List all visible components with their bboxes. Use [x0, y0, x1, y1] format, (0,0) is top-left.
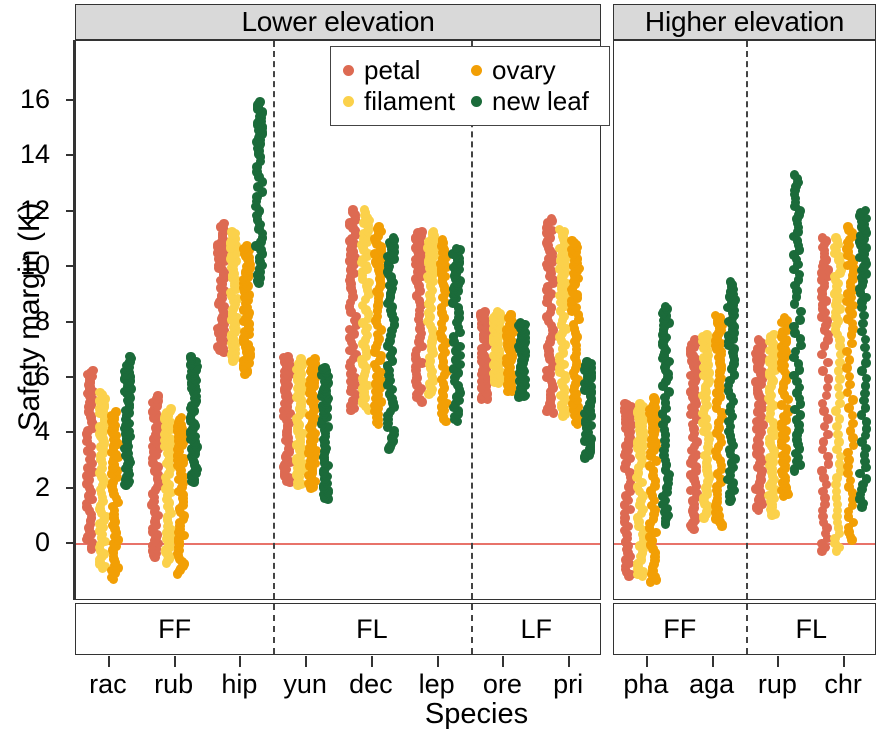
- y-axis-tick-label: 6: [6, 363, 50, 390]
- data-point: [95, 388, 105, 398]
- data-point: [754, 335, 764, 345]
- data-point: [153, 391, 163, 401]
- plot-area: [613, 40, 876, 600]
- data-point: [861, 335, 871, 345]
- y-axis-tick-label: 2: [6, 474, 50, 501]
- x-axis-tick-label: pri: [528, 671, 608, 698]
- data-point: [842, 347, 852, 357]
- data-point: [790, 170, 800, 180]
- data-point: [817, 350, 827, 360]
- data-point: [833, 430, 843, 440]
- group-label: FL: [746, 604, 877, 654]
- legend-marker-petal-icon: [343, 65, 354, 76]
- legend-marker-ovary-icon: [471, 65, 482, 76]
- x-axis-tick-mark: [777, 656, 779, 667]
- x-axis-tick-mark: [646, 656, 648, 667]
- y-axis-tick-label: 0: [6, 529, 50, 556]
- data-point: [842, 363, 852, 373]
- legend-label: ovary: [492, 56, 595, 85]
- group-axis-box: FFFLLF: [75, 603, 601, 655]
- data-point: [858, 319, 868, 329]
- x-axis-tick-mark: [108, 656, 110, 667]
- group-divider: [746, 41, 748, 599]
- data-point: [88, 366, 98, 376]
- group-label: FL: [273, 604, 470, 654]
- data-point: [348, 205, 358, 215]
- data-point: [255, 97, 265, 107]
- legend-label: new leaf: [492, 87, 595, 116]
- data-point: [780, 313, 790, 323]
- data-point: [242, 241, 252, 251]
- data-point: [296, 354, 306, 364]
- data-point: [283, 352, 293, 362]
- data-point: [823, 383, 833, 393]
- legend-label: petal: [364, 56, 461, 85]
- data-point: [847, 339, 857, 349]
- x-axis-tick-mark: [843, 656, 845, 667]
- legend-label: filament: [364, 87, 461, 116]
- data-point: [835, 374, 845, 384]
- data-point: [186, 352, 196, 362]
- data-point: [125, 352, 135, 362]
- data-point: [111, 407, 121, 417]
- chart-figure: Safety margin (K) Species 0246810121416 …: [0, 0, 878, 732]
- y-axis-tick-label: 14: [6, 141, 50, 168]
- data-point: [516, 318, 526, 328]
- data-point: [649, 393, 659, 403]
- data-point: [429, 227, 439, 237]
- x-axis-tick-mark: [239, 656, 241, 667]
- legend-marker-filament-icon: [343, 96, 354, 107]
- facet-panel: Higher elevationFFFLphaagarupchr: [613, 0, 876, 732]
- chart-legend: petalovaryfilamentnew leaf: [330, 46, 610, 126]
- legend-marker-new-leaf-icon: [471, 96, 482, 107]
- y-axis-tick-label: 8: [6, 308, 50, 335]
- data-point: [848, 395, 858, 405]
- data-point: [861, 206, 871, 216]
- data-point: [823, 358, 833, 368]
- data-point: [506, 310, 516, 320]
- data-point: [438, 235, 448, 245]
- y-axis-tick-label: 10: [6, 252, 50, 279]
- x-axis-tick-mark: [174, 656, 176, 667]
- data-point: [320, 363, 330, 373]
- data-point: [824, 374, 834, 384]
- data-point: [859, 311, 869, 321]
- group-axis-box: FFFL: [613, 603, 876, 655]
- data-point: [818, 366, 828, 376]
- x-axis-tick-mark: [305, 656, 307, 667]
- data-point: [480, 307, 490, 317]
- facet-strip-label: Lower elevation: [75, 4, 601, 40]
- x-axis-tick-mark: [712, 656, 714, 667]
- data-point: [818, 233, 828, 243]
- data-point: [845, 380, 855, 390]
- data-point: [845, 372, 855, 382]
- data-point: [796, 307, 806, 317]
- data-point: [219, 219, 229, 229]
- data-point: [417, 227, 427, 237]
- data-point: [845, 355, 855, 365]
- data-point: [860, 343, 870, 353]
- data-point: [726, 277, 736, 287]
- x-axis-tick-mark: [568, 656, 570, 667]
- group-label: LF: [471, 604, 602, 654]
- data-point: [166, 404, 176, 414]
- x-axis-tick-mark: [502, 656, 504, 667]
- group-divider: [273, 41, 275, 599]
- data-point: [831, 233, 841, 243]
- data-point: [620, 399, 630, 409]
- data-point: [374, 222, 384, 232]
- y-axis-tick-label: 16: [6, 86, 50, 113]
- data-point: [822, 391, 832, 401]
- data-point: [635, 399, 645, 409]
- data-point: [567, 236, 577, 246]
- group-label: FF: [76, 604, 273, 654]
- data-point: [819, 406, 829, 416]
- x-axis-tick-label: chr: [803, 671, 878, 698]
- data-point: [227, 227, 237, 237]
- data-point: [389, 233, 399, 243]
- y-axis-tick-label: 12: [6, 197, 50, 224]
- x-axis-tick-mark: [437, 656, 439, 667]
- x-axis-tick-mark: [371, 656, 373, 667]
- data-point: [493, 307, 503, 317]
- y-axis-tick-label: 4: [6, 418, 50, 445]
- data-point: [795, 315, 805, 325]
- data-point: [843, 222, 853, 232]
- facet-strip-label: Higher elevation: [613, 4, 876, 40]
- group-label: FF: [614, 604, 746, 654]
- data-point: [661, 302, 671, 312]
- data-point: [310, 354, 320, 364]
